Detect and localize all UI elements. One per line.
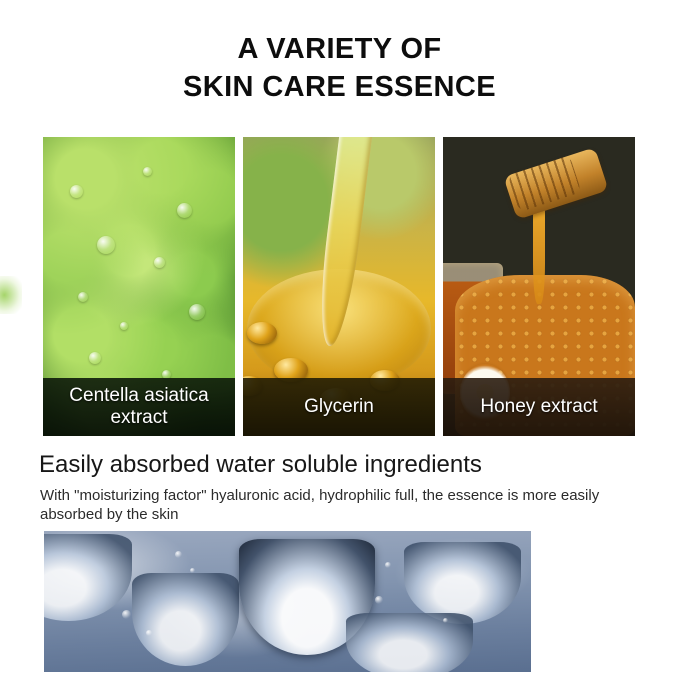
feature-subheading: Easily absorbed water soluble ingredient… — [39, 450, 482, 480]
droplet — [143, 167, 152, 176]
water-bead — [122, 610, 131, 619]
page-title-line-1: A VARIETY OF — [0, 30, 679, 68]
water-bead — [385, 562, 391, 568]
honey-drizzle — [533, 203, 545, 305]
water-bead — [146, 630, 152, 636]
droplet — [177, 203, 192, 218]
water-drop — [346, 613, 473, 672]
ingredient-card-centella[interactable]: Centella asiatica extract — [43, 137, 235, 436]
water-droplets-banner — [44, 531, 531, 672]
honey-dipper-grooves — [508, 155, 582, 212]
feature-body-text: With "moisturizing factor" hyaluronic ac… — [40, 486, 635, 524]
droplet — [78, 292, 88, 302]
page-title-line-2: SKIN CARE ESSENCE — [0, 68, 679, 106]
page-title: A VARIETY OF SKIN CARE ESSENCE — [0, 30, 679, 106]
ingredient-card-glycerin[interactable]: Glycerin — [243, 137, 435, 436]
droplet — [89, 352, 101, 364]
ingredient-card-honey[interactable]: Honey extract — [443, 137, 635, 436]
ingredient-card-row: Centella asiatica extract Glycerin Honey… — [43, 137, 637, 436]
droplet — [154, 257, 165, 268]
ingredient-card-label: Honey extract — [443, 378, 635, 436]
left-edge-image-bleed — [0, 276, 22, 314]
ingredient-card-label: Centella asiatica extract — [43, 378, 235, 436]
droplet — [189, 304, 205, 320]
droplet — [97, 236, 115, 254]
droplet — [120, 322, 128, 330]
water-bead — [190, 568, 195, 573]
water-bead — [375, 596, 383, 604]
ingredient-card-label: Glycerin — [243, 378, 435, 436]
droplet — [70, 185, 83, 198]
